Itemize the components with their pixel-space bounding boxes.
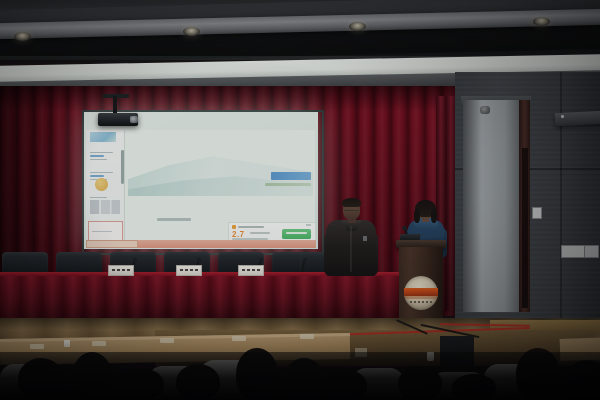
projector-mount-pole (113, 96, 117, 114)
door-gap (522, 148, 528, 308)
wall-air-unit (555, 111, 600, 126)
microphone-head-icon (303, 258, 307, 262)
thumb-table-icon (90, 200, 120, 214)
thumb-heading (90, 155, 104, 157)
close-icon[interactable] (306, 224, 311, 226)
name-card-2 (176, 265, 202, 276)
light-switch[interactable] (532, 207, 542, 219)
desk-item-3 (160, 338, 174, 343)
sidebar-scrollbar[interactable] (121, 150, 124, 184)
thumb-line (92, 231, 112, 232)
downlight-icon-1 (14, 32, 31, 41)
podium-speaker-hair-left (414, 209, 420, 223)
thumb-pie-icon (95, 178, 108, 191)
audience-foreground-shadow (0, 352, 600, 400)
thumb-line (90, 172, 113, 173)
thumb-line (90, 152, 113, 153)
desk-item-4 (232, 336, 246, 341)
wall-air-unit-led-icon (561, 115, 564, 118)
podium-speaker-hair-right (431, 209, 437, 223)
desk-item-2 (92, 341, 106, 346)
presenter-badge (363, 236, 367, 241)
slide-thumbnail-1[interactable] (90, 132, 116, 142)
downlight-icon-2 (183, 27, 200, 36)
curtain-top-shadow (0, 86, 470, 112)
slide-thumbnail-4[interactable] (90, 195, 120, 200)
thumb-line (90, 159, 107, 160)
microphone-head-icon (133, 258, 137, 262)
thumb-heading (90, 175, 104, 177)
name-card-text (242, 269, 260, 271)
wall-outlet[interactable] (561, 245, 585, 258)
taskbar-start-area[interactable] (86, 240, 138, 248)
slide-thumbnail-2[interactable] (90, 150, 120, 162)
podium-emblem-band (404, 288, 438, 296)
ceiling-sensor-icon (480, 106, 490, 114)
auditorium-scene: 2.7 (0, 0, 600, 400)
doorway-shadow (463, 100, 481, 312)
panel-table-drape-folds (0, 276, 400, 320)
desk-item-1 (30, 344, 44, 349)
podium-emblem-text (410, 301, 432, 303)
presenter-jacket-zip (350, 226, 352, 272)
slide-footnote-text (157, 218, 191, 221)
name-card-3 (238, 265, 264, 276)
microphone-head-icon (259, 258, 263, 262)
status-dot-icon (232, 225, 236, 229)
downlight-icon-3 (349, 22, 366, 31)
glasses-icon (344, 206, 359, 211)
paper-cup-2 (64, 340, 70, 347)
projector-lens-icon (130, 116, 138, 123)
name-card-1 (108, 265, 134, 276)
downlight-icon-4 (533, 17, 550, 26)
microphone-head-icon (197, 258, 201, 262)
wall-outlet-secondary[interactable] (584, 245, 599, 258)
name-card-text (112, 269, 130, 271)
slide-heading-text (271, 172, 311, 180)
thumb-line (90, 197, 107, 198)
podium-emblem-band-lower (405, 296, 437, 299)
name-card-text (180, 269, 198, 271)
slide-subheading-text (265, 183, 311, 186)
microphone-head-icon (402, 226, 407, 230)
desk-item-5 (300, 334, 314, 339)
